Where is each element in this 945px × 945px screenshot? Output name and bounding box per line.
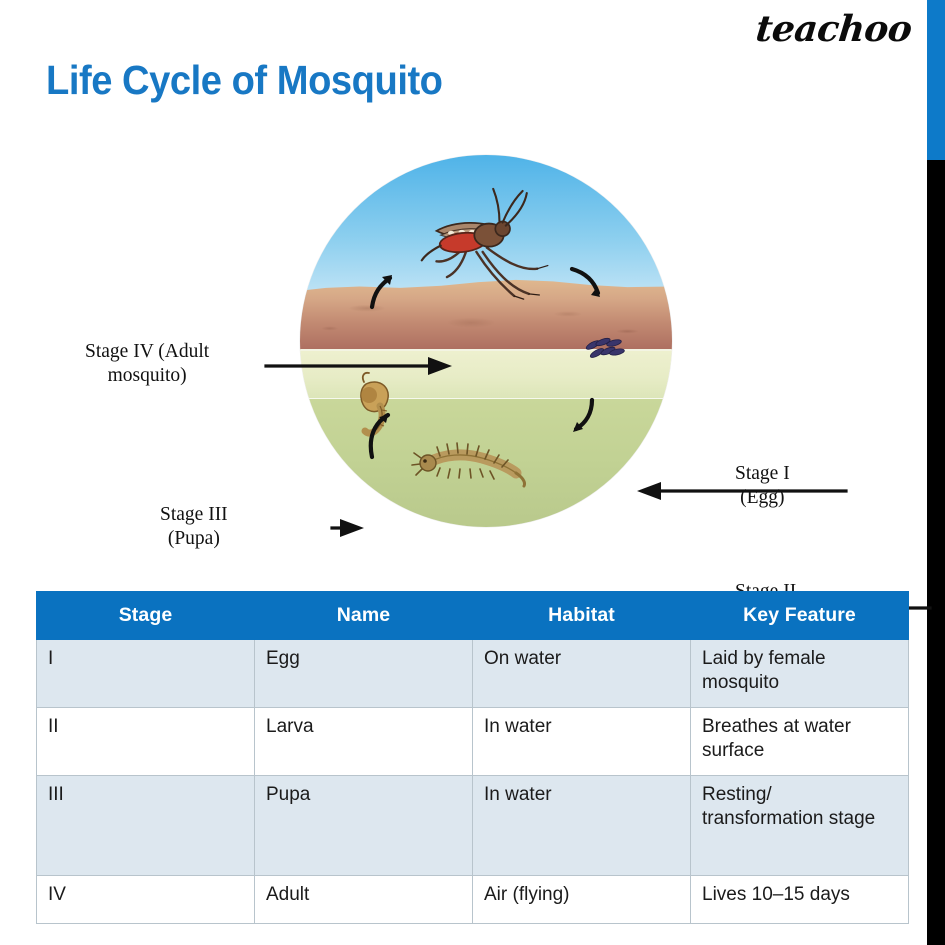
table-row: III Pupa In water Resting/ transformatio… — [37, 775, 909, 875]
cell-key-feature: Lives 10–15 days — [691, 875, 909, 923]
cell-name: Pupa — [255, 775, 473, 875]
cell-key-feature: Resting/ transformation stage — [691, 775, 909, 875]
cell-key-feature: Breathes at water surface — [691, 707, 909, 775]
table-row: IV Adult Air (flying) Lives 10–15 days — [37, 875, 909, 923]
cycle-arrow-adult-to-egg — [572, 269, 598, 293]
cell-key-feature: Laid by female mosquito — [691, 639, 909, 707]
cell-stage: III — [37, 775, 255, 875]
label-stage-1: Stage I (Egg) — [735, 462, 790, 510]
cell-name: Egg — [255, 639, 473, 707]
label-stage-1-line2: (Egg) — [735, 486, 790, 510]
slide-page: teachoo Life Cycle of Mosquito — [0, 0, 945, 945]
right-edge-black-bar — [927, 160, 945, 945]
mosquito-eggs-icon — [585, 337, 625, 359]
cell-habitat: In water — [473, 707, 691, 775]
right-edge-blue-bar — [927, 0, 945, 160]
lifecycle-scene-graphics — [300, 155, 672, 527]
cell-stage: I — [37, 639, 255, 707]
figure-area: Stage IV (Adult mosquito) Stage III (Pup… — [0, 140, 927, 570]
table-row: I Egg On water Laid by female mosquito — [37, 639, 909, 707]
cell-habitat: Air (flying) — [473, 875, 691, 923]
cell-name: Adult — [255, 875, 473, 923]
label-stage-3-line1: Stage III — [160, 503, 228, 527]
table-header-row: Stage Name Habitat Key Feature — [37, 592, 909, 640]
column-header-habitat: Habitat — [473, 592, 691, 640]
mosquito-larva-icon — [412, 443, 525, 486]
cell-stage: II — [37, 707, 255, 775]
page-title: Life Cycle of Mosquito — [46, 57, 443, 104]
teachoo-logo: teachoo — [753, 8, 913, 50]
cell-stage: IV — [37, 875, 255, 923]
mosquito-stages-table: Stage Name Habitat Key Feature I Egg On … — [36, 591, 909, 924]
cycle-arrow-ground-left-up — [372, 278, 390, 307]
cell-name: Larva — [255, 707, 473, 775]
mosquito-lifecycle-illustration — [300, 155, 672, 527]
column-header-stage: Stage — [37, 592, 255, 640]
cell-habitat: On water — [473, 639, 691, 707]
label-stage-3: Stage III (Pupa) — [160, 503, 228, 551]
table-row: II Larva In water Breathes at water surf… — [37, 707, 909, 775]
column-header-key-feature: Key Feature — [691, 592, 909, 640]
label-stage-1-line1: Stage I — [735, 462, 790, 486]
adult-mosquito-icon — [422, 189, 548, 299]
label-stage-4-line1: Stage IV (Adult — [85, 340, 209, 364]
mosquito-pupa-icon — [361, 373, 388, 433]
label-stage-3-line2: (Pupa) — [160, 527, 228, 551]
column-header-name: Name — [255, 592, 473, 640]
label-stage-4: Stage IV (Adult mosquito) — [85, 340, 209, 388]
cell-habitat: In water — [473, 775, 691, 875]
label-stage-4-line2: mosquito) — [85, 364, 209, 388]
